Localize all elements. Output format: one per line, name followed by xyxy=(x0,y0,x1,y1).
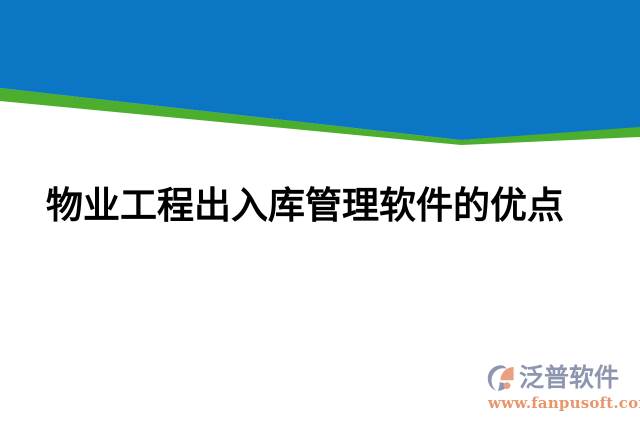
logo-row: 泛普软件 xyxy=(486,361,619,395)
slide-title: 物业工程出入库管理软件的优点 xyxy=(46,183,594,229)
logo-wordmark: 泛普软件 xyxy=(519,363,619,393)
slide-canvas: 物业工程出入库管理软件的优点 泛普软件 www.fanpusoft.com xyxy=(0,0,640,427)
brand-logo: 泛普软件 www.fanpusoft.com xyxy=(486,361,632,415)
fanpu-swirl-logo-icon xyxy=(486,363,516,393)
banner-blue-shape xyxy=(0,0,640,140)
top-chevron-banner xyxy=(0,0,640,150)
logo-url-text: www.fanpusoft.com xyxy=(488,394,640,413)
